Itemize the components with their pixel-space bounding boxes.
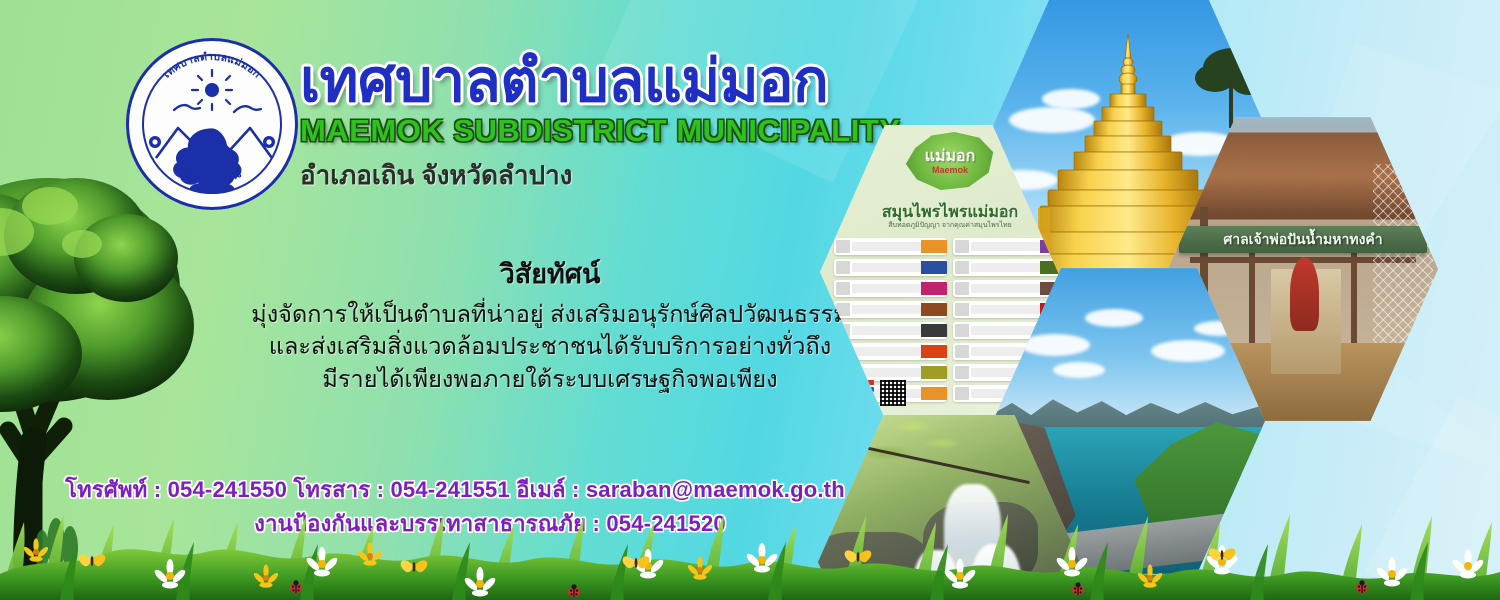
butterfly-icon <box>845 550 872 562</box>
butterfly-icon <box>401 560 428 572</box>
butterfly-icon <box>1209 548 1236 560</box>
butterfly-icon <box>623 556 650 568</box>
municipality-banner: เทศบาลตำบลแม่มอก จังหวัดลำปาง เทศบาลตำบล… <box>0 0 1500 600</box>
poster-product-item <box>834 343 947 360</box>
shrine-fence <box>1373 164 1432 350</box>
poster-logo: แม่มอก Maemok <box>904 132 996 190</box>
qr-code-icon <box>880 380 906 406</box>
social-icons <box>846 380 874 406</box>
flower-yellow-daisy <box>22 539 49 562</box>
shrine-sign: ศาลเจ้าพ่อปันน้ำมหาทงคำ <box>1179 226 1427 254</box>
pagoda-caption-line-2: บ้านทุ่ง <box>1211 0 1255 14</box>
sun-icon <box>192 70 232 110</box>
hexagon-photo-collage: แม่มอก Maemok สมุนไพรไพรแม่มอก สืบทอดภูม… <box>800 0 1500 562</box>
poster-product-item <box>834 259 947 276</box>
butterfly-icon <box>79 554 106 566</box>
pagoda-caption-line-3: อำเภอ <box>1211 14 1255 28</box>
poster-product-item <box>953 259 1066 276</box>
poster-product-item <box>953 280 1066 297</box>
poster-product-item <box>834 238 947 255</box>
contact-line-phone-fax-email[interactable]: โทรศัพท์ : 054-241550 โทรสาร : 054-24155… <box>60 473 850 507</box>
leaf-badge-icon: แม่มอก Maemok <box>904 132 996 190</box>
grass-flower-border <box>0 504 1500 600</box>
municipality-seal: เทศบาลตำบลแม่มอก จังหวัดลำปาง <box>126 38 298 210</box>
poster-footer <box>846 380 906 406</box>
poster-product-item <box>834 322 947 339</box>
poster-product-item <box>834 280 947 297</box>
poster-product-item <box>834 364 947 381</box>
bird-icon <box>174 105 261 112</box>
poster-badge-en: Maemok <box>904 165 996 175</box>
poster-product-item <box>834 301 947 318</box>
shrine-deity-figure <box>1290 257 1320 331</box>
pagoda-caption: วัดพระ บ้านทุ่ง อำเภอ <box>1211 0 1255 28</box>
